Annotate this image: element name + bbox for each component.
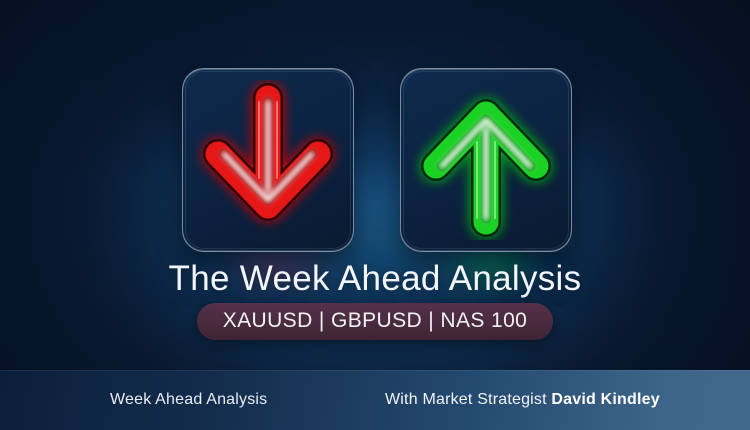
instruments-badge-row: XAUUSD | GBPUSD | NAS 100	[0, 303, 750, 340]
bullish-card	[400, 68, 572, 252]
footer-left-label: Week Ahead Analysis	[110, 391, 267, 409]
bearish-card	[182, 68, 354, 252]
footer-presenter-prefix: With Market Strategist	[385, 391, 551, 408]
arrow-down-icon	[183, 69, 353, 251]
footer-presenter: With Market Strategist David Kindley	[385, 391, 660, 409]
footer-bar: Week Ahead Analysis With Market Strategi…	[0, 370, 750, 430]
background-vignette	[0, 0, 750, 430]
instruments-badge: XAUUSD | GBPUSD | NAS 100	[197, 303, 554, 340]
page-title: The Week Ahead Analysis	[0, 259, 750, 299]
arrow-up-icon	[401, 69, 571, 251]
footer-presenter-name: David Kindley	[551, 391, 659, 408]
banner-canvas: The Week Ahead Analysis XAUUSD | GBPUSD …	[0, 0, 750, 430]
